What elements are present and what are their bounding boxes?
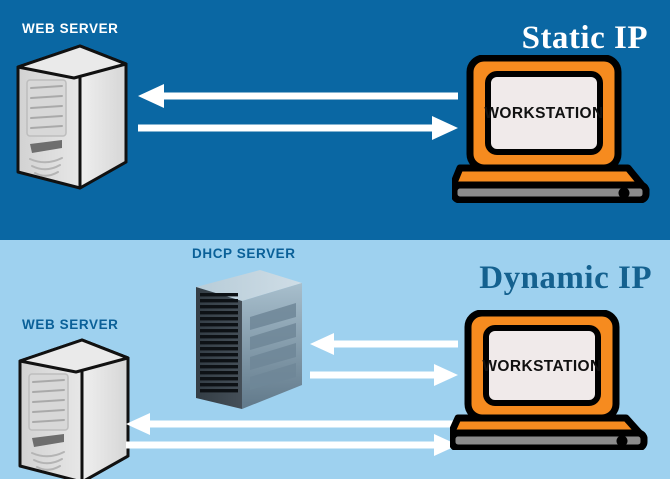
- diagram-canvas: WEB SERVER Static IP: [0, 0, 670, 479]
- heading-static-ip: Static IP: [522, 22, 648, 55]
- workstation-laptop-icon-dynamic: WORKSTATION: [450, 310, 650, 450]
- arrow-workstation-to-webserver-dynamic: [126, 434, 458, 456]
- heading-dynamic-ip: Dynamic IP: [479, 262, 652, 295]
- arrow-server-to-workstation-static: [138, 84, 458, 108]
- arrow-workstation-to-server-static: [138, 116, 458, 140]
- label-dhcp-server: DHCP SERVER: [192, 247, 296, 261]
- arrow-webserver-to-workstation-dynamic: [126, 413, 458, 435]
- label-web-server-static: WEB SERVER: [22, 22, 119, 36]
- web-server-icon-static: [12, 40, 132, 195]
- arrow-dhcp-to-workstation: [310, 333, 458, 355]
- workstation-screen-label-static: WORKSTATION: [484, 105, 603, 122]
- dhcp-server-icon: [190, 265, 308, 420]
- workstation-laptop-icon-static: WORKSTATION: [452, 55, 652, 203]
- workstation-screen-label-dynamic: WORKSTATION: [482, 358, 601, 375]
- web-server-icon-dynamic: [14, 334, 134, 479]
- label-web-server-dynamic: WEB SERVER: [22, 318, 119, 332]
- arrow-workstation-to-dhcp: [310, 364, 458, 386]
